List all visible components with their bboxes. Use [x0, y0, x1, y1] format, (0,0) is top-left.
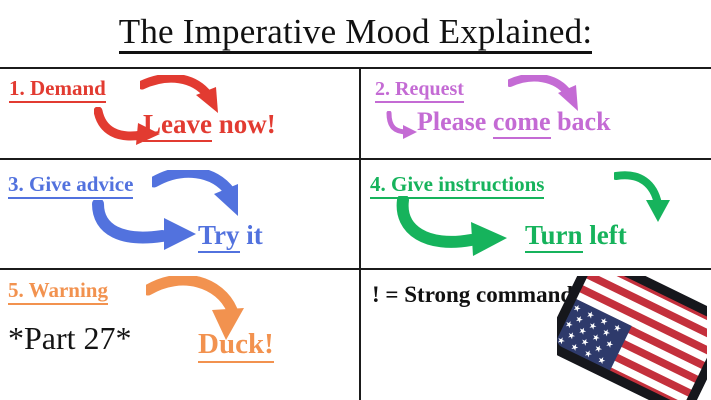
cell-demand-example-verb: Leave — [143, 109, 212, 142]
cell-give-advice: 3. Give advice Try it — [0, 160, 359, 268]
cell-demand: 1. Demand Leave now! — [0, 69, 359, 158]
cell-give-advice-label: 3. Give advice — [8, 174, 133, 195]
page-title-area: The Imperative Mood Explained: — [0, 0, 711, 68]
cell-warning: 5. Warning *Part 27* Duck! — [0, 270, 359, 400]
cell-demand-label: 1. Demand — [9, 78, 106, 99]
page-title: The Imperative Mood Explained: — [119, 14, 593, 54]
small-elbow-arrow-icon — [385, 111, 419, 141]
strong-command-note: ! = Strong command — [372, 282, 573, 308]
cell-give-advice-example: Try it — [198, 222, 263, 249]
cell-request-example-pre: Please — [417, 107, 493, 136]
cell-give-instructions-label: 4. Give instructions — [370, 174, 544, 195]
cell-give-instructions-example-verb: Turn — [525, 220, 583, 253]
curved-arrow-right-icon — [395, 196, 521, 258]
cell-warning-label: 5. Warning — [8, 280, 108, 301]
us-flag-icon: ★★★★ ★★★ ★★★★ ★★★ ★★★★ — [557, 276, 707, 400]
cell-warning-example-verb: Duck! — [198, 328, 274, 363]
cell-warning-label-text: 5. Warning — [8, 278, 108, 305]
cell-request: 2. Request Please come back — [361, 69, 711, 158]
cell-request-example-rest: back — [551, 107, 611, 136]
curved-arrow-down-right-icon — [152, 170, 248, 218]
cell-request-label-text: 2. Request — [375, 78, 464, 103]
cell-warning-example: Duck! — [198, 330, 274, 359]
cell-give-advice-label-text: 3. Give advice — [8, 172, 133, 199]
cell-request-label: 2. Request — [375, 79, 464, 99]
cell-give-advice-example-rest: it — [240, 220, 263, 250]
cell-give-instructions-example: Turn left — [525, 222, 627, 249]
cell-give-instructions-example-rest: left — [583, 220, 627, 250]
cell-demand-label-text: 1. Demand — [9, 76, 106, 103]
curved-arrow-up-right-icon — [92, 200, 204, 250]
cell-demand-example-rest: now! — [212, 109, 276, 139]
cell-request-example-verb: come — [493, 107, 551, 139]
cell-give-advice-example-verb: Try — [198, 220, 240, 253]
curved-arrow-down-icon — [614, 170, 676, 224]
cell-demand-example: Leave now! — [143, 111, 276, 138]
cell-give-instructions-label-text: 4. Give instructions — [370, 172, 544, 199]
imperative-mood-poster: The Imperative Mood Explained: 1. Demand… — [0, 0, 711, 400]
cell-give-instructions: 4. Give instructions Turn left — [361, 160, 711, 268]
cell-strong-command: ! = Strong command — [361, 270, 711, 400]
cell-request-example: Please come back — [417, 109, 611, 135]
cell-warning-part-text: *Part 27* — [8, 322, 132, 354]
